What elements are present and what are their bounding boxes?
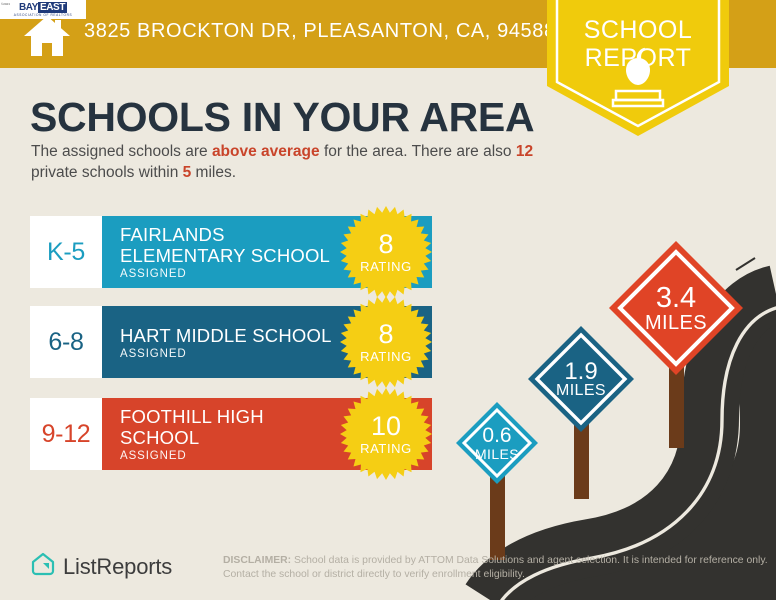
rating-value: 8: [378, 321, 393, 348]
logo-bay: BAY: [19, 2, 38, 13]
page-subtitle: The assigned schools are above average f…: [31, 141, 551, 183]
rating-label: RATING: [360, 441, 412, 456]
subtitle-highlight-count: 12: [516, 143, 533, 160]
logo-wordmark: BAYEAST: [19, 3, 67, 13]
distance-sign[interactable]: 3.4 MILES: [606, 238, 746, 448]
rating-label: RATING: [360, 349, 412, 364]
grade-badge: 6-8: [30, 306, 102, 378]
subtitle-part-d: miles.: [191, 164, 236, 181]
rating-content: 8 RATING: [340, 296, 432, 388]
subtitle-part-a: The assigned schools are: [31, 143, 212, 160]
school-name: FOOTHILL HIGH SCHOOL: [120, 406, 335, 448]
rating-label: RATING: [360, 259, 412, 274]
grade-label: K-5: [47, 238, 85, 267]
rating-badge: 8 RATING: [340, 296, 432, 388]
house-tag-icon: [30, 551, 56, 582]
subtitle-part-c: private schools within: [31, 164, 183, 181]
infographic-page: ©2023 BAYEAST ASSOCIATION OF REALTORS 38…: [0, 0, 776, 600]
grade-label: 6-8: [48, 328, 83, 357]
grade-badge: 9-12: [30, 398, 102, 470]
disclaimer-label: DISCLAIMER:: [223, 555, 291, 566]
badge-line-2: REPORT: [547, 44, 729, 72]
rating-value: 8: [378, 231, 393, 258]
rating-value: 10: [371, 413, 401, 440]
rating-content: 10 RATING: [340, 388, 432, 480]
rating-badge: 8 RATING: [340, 206, 432, 298]
school-report-badge-text: SCHOOL REPORT: [547, 16, 729, 72]
property-address: 3825 BROCKTON DR, PLEASANTON, CA, 94588: [84, 20, 556, 43]
diamond-sign-icon: [606, 238, 746, 378]
page-title: SCHOOLS IN YOUR AREA: [30, 94, 534, 141]
rating-badge: 10 RATING: [340, 388, 432, 480]
subtitle-highlight-radius: 5: [183, 164, 192, 181]
grade-label: 9-12: [42, 420, 91, 449]
disclaimer: DISCLAIMER: School data is provided by A…: [223, 554, 768, 581]
badge-line-1: SCHOOL: [547, 16, 729, 44]
school-name: HART MIDDLE SCHOOL: [120, 325, 335, 346]
subtitle-highlight-rating: above average: [212, 143, 320, 160]
road-illustration: 0.6 MILES 1.9 MILES 3.4: [440, 248, 776, 600]
listreports-logo[interactable]: ListReports: [30, 551, 172, 582]
disclaimer-text: School data is provided by ATTOM Data So…: [223, 555, 768, 580]
sign-post: [490, 474, 505, 560]
logo-copyright: ©2023: [1, 2, 10, 6]
subtitle-part-b: for the area. There are also: [320, 143, 516, 160]
school-name: FAIRLANDS ELEMENTARY SCHOOL: [120, 224, 335, 266]
grade-badge: K-5: [30, 216, 102, 288]
logo-east: EAST: [38, 2, 67, 13]
rating-content: 8 RATING: [340, 206, 432, 298]
house-icon: [22, 14, 72, 58]
listreports-name: ListReports: [63, 554, 172, 580]
